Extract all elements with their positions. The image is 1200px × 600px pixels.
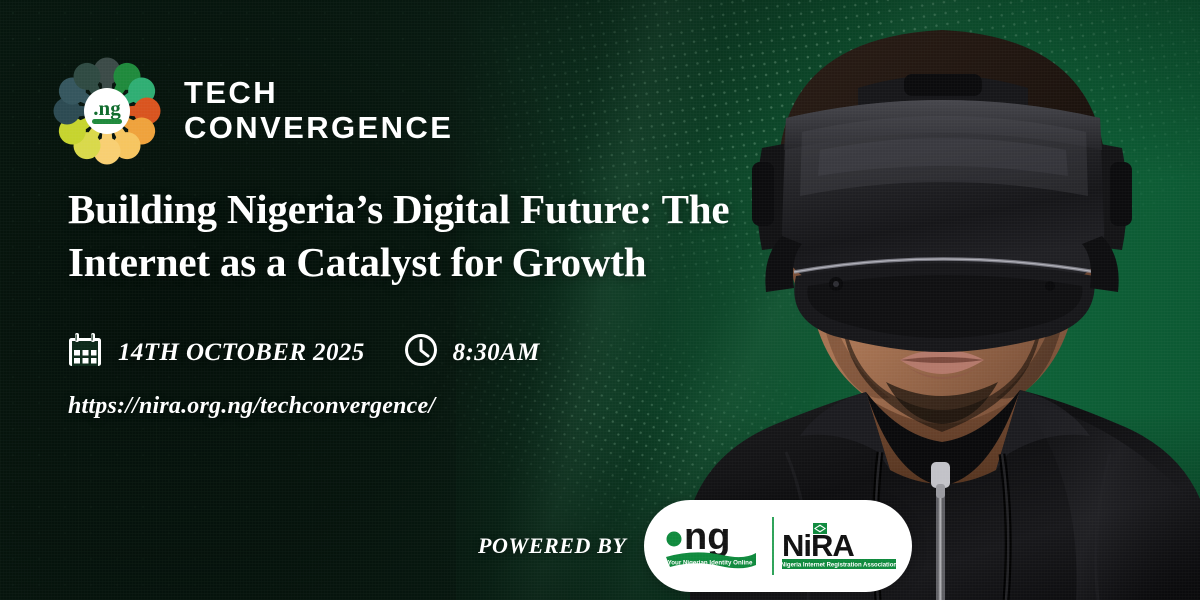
brand-line-2: CONVERGENCE <box>184 111 453 146</box>
brand-header: .ng TECH CONVERGENCE <box>48 52 453 170</box>
event-banner: .ng TECH CONVERGENCE Building Nigeria’s … <box>0 0 1200 600</box>
ng-domain-logo: ng Your Nigerian Identity Online <box>652 500 772 592</box>
page-title: Building Nigeria’s Digital Future: The I… <box>68 183 798 290</box>
svg-text:ng: ng <box>684 516 730 558</box>
brand-wordmark: TECH CONVERGENCE <box>184 76 453 145</box>
event-time: 8:30AM <box>453 339 540 367</box>
calendar-icon <box>66 331 104 374</box>
event-meta-row: 14TH OCTOBER 2025 8:30AM <box>66 331 540 374</box>
brand-line-1: TECH <box>184 75 278 110</box>
ng-flower-logo-icon: .ng <box>48 52 166 170</box>
svg-text:NiRA: NiRA <box>782 528 854 563</box>
nira-logo-tagline: Nigeria Internet Registration Associatio… <box>781 563 897 569</box>
event-url-link[interactable]: https://nira.org.ng/techconvergence/ <box>68 393 435 420</box>
ng-logo-tagline: Your Nigerian Identity Online <box>668 560 753 567</box>
sponsor-logo-pill: ng Your Nigerian Identity Online NiRA <box>644 500 912 592</box>
nira-logo: NiRA Nigeria Internet Registration Assoc… <box>774 500 904 592</box>
event-date: 14TH OCTOBER 2025 <box>118 339 365 367</box>
svg-text:.ng: .ng <box>93 96 121 120</box>
powered-by-label: POWERED BY <box>478 533 626 559</box>
powered-by-section: POWERED BY ng Your Nigerian Identity Onl… <box>478 500 912 592</box>
clock-icon <box>403 332 439 373</box>
